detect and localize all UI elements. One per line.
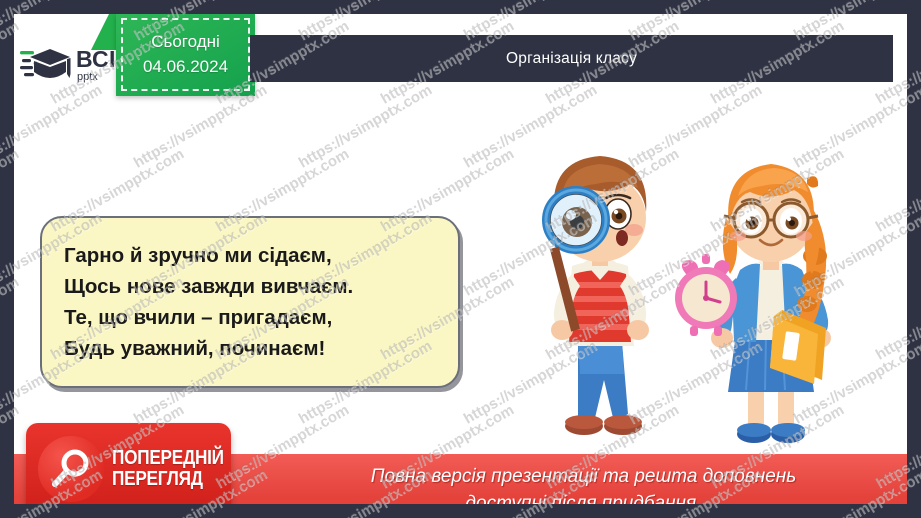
purchase-notice-text: Повна версія презентації та решта доповн… [246,460,907,504]
preview-line: ПОПЕРЕДНІЙ [112,448,224,469]
graduation-cap-icon [20,45,72,85]
banner-line: доступні після придбання. [466,491,702,504]
poem-text-box: Гарно й зручно ми сідаєм, Щось нове завж… [40,216,460,388]
poem-line: Щось нове завжди вивчаєм. [64,271,458,302]
today-label: Сьогодні [151,30,220,55]
today-date-badge: Сьогодні 04.06.2024 [116,14,255,96]
girl-character [675,164,831,443]
preview-line: ПЕРЕГЛЯД [112,469,224,490]
poem-line: Гарно й зручно ми сідаєм, [64,240,458,271]
page-title: Організація класу [506,50,637,68]
slide-title-bar: Організація класу [250,35,893,82]
preview-badge-text: ПОПЕРЕДНІЙ ПЕРЕГЛЯД [112,448,242,490]
characters-illustration [510,134,900,464]
today-date: 04.06.2024 [143,55,228,80]
boy-character [546,156,649,435]
poem-line: Будь уважний, починаєм! [64,333,458,364]
preview-badge: ПОПЕРЕДНІЙ ПЕРЕГЛЯД [26,423,231,504]
slide-canvas: ВСІМ pptx Сьогодні 04.06.2024 Організаці… [14,14,907,504]
magnifier-icon [38,436,104,502]
poem-line: Те, що вчили – пригадаєм, [64,302,458,333]
banner-line: Повна версія презентації та решта доповн… [371,464,796,491]
